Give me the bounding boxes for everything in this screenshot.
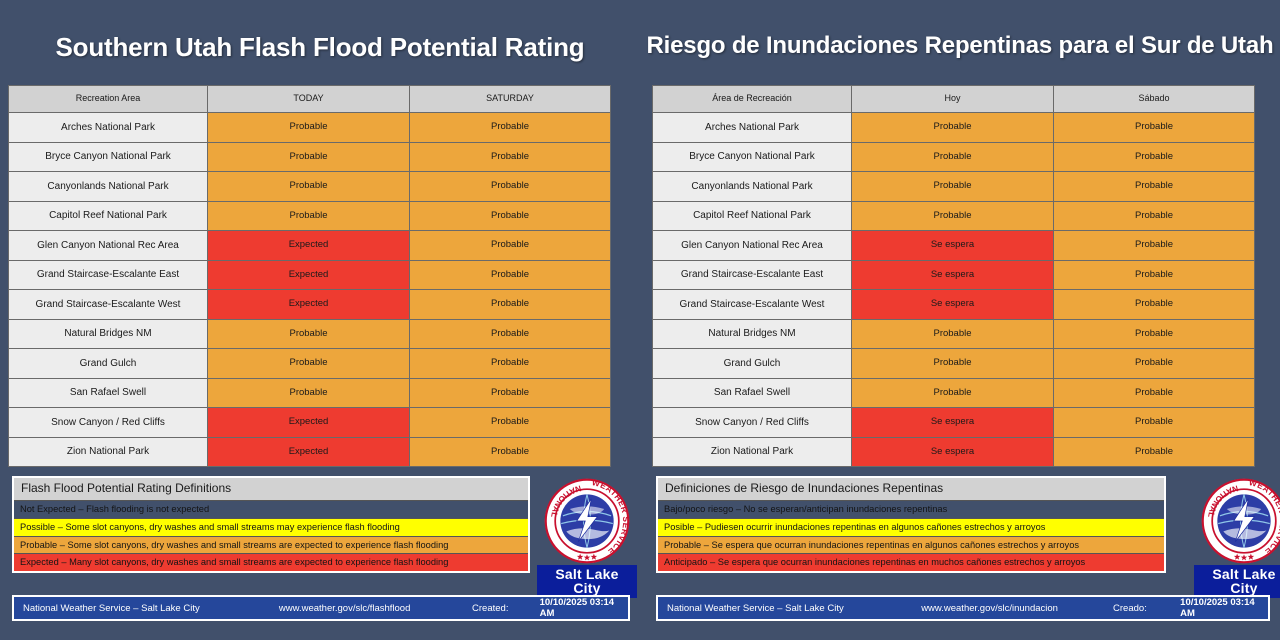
definitions-box-spanish: Definiciones de Riesgo de Inundaciones R… (656, 476, 1166, 573)
definitions-heading: Flash Flood Potential Rating Definitions (14, 478, 528, 501)
cell-recreation-area: Glen Canyon National Rec Area (9, 231, 208, 261)
table-body-english: Arches National ParkProbableProbableBryc… (9, 113, 611, 467)
cell-rating-day1: Probable (208, 201, 410, 231)
footer-agency: National Weather Service – Salt Lake Cit… (658, 603, 921, 614)
cell-rating-day1: Expected (208, 408, 410, 438)
cell-recreation-area: Snow Canyon / Red Cliffs (9, 408, 208, 438)
nws-seal-icon: WEATHER SERVICE NATIONAL (544, 478, 630, 564)
cell-rating-day2: Probable (1054, 231, 1255, 261)
cell-recreation-area: Grand Staircase-Escalante West (9, 290, 208, 320)
cell-recreation-area: Zion National Park (653, 437, 852, 467)
definitions-rows-english: Not Expected – Flash flooding is not exp… (14, 501, 528, 571)
definition-row-probable: Probable – Some slot canyons, dry washes… (14, 537, 528, 555)
cell-recreation-area: Capitol Reef National Park (9, 201, 208, 231)
cell-rating-day2: Probable (1054, 113, 1255, 143)
cell-rating-day2: Probable (410, 260, 611, 290)
cell-recreation-area: Arches National Park (653, 113, 852, 143)
column-header-day1: Hoy (852, 86, 1054, 113)
cell-rating-day1: Se espera (852, 290, 1054, 320)
panel-english: Southern Utah Flash Flood Potential Rati… (0, 0, 640, 640)
table-row: Capitol Reef National ParkProbableProbab… (653, 201, 1255, 231)
page-title-english: Southern Utah Flash Flood Potential Rati… (0, 32, 640, 63)
column-header-area: Área de Recreación (653, 86, 852, 113)
cell-rating-day2: Probable (410, 349, 611, 379)
table-row: Arches National ParkProbableProbable (9, 113, 611, 143)
table-row: Grand Staircase-Escalante WestSe esperaP… (653, 290, 1255, 320)
table-header-row: Recreation Area TODAY SATURDAY (9, 86, 611, 113)
definitions-heading: Definiciones de Riesgo de Inundaciones R… (658, 478, 1164, 501)
table-row: Bryce Canyon National ParkProbableProbab… (653, 142, 1255, 172)
cell-recreation-area: Grand Gulch (9, 349, 208, 379)
cell-rating-day2: Probable (1054, 349, 1255, 379)
cell-rating-day1: Expected (208, 231, 410, 261)
cell-recreation-area: Bryce Canyon National Park (653, 142, 852, 172)
table-row: Snow Canyon / Red CliffsExpectedProbable (9, 408, 611, 438)
cell-rating-day1: Probable (852, 319, 1054, 349)
footer-created-label: Creado: (1113, 603, 1180, 614)
table-row: Glen Canyon National Rec AreaExpectedPro… (9, 231, 611, 261)
column-header-day1: TODAY (208, 86, 410, 113)
cell-recreation-area: Snow Canyon / Red Cliffs (653, 408, 852, 438)
cell-rating-day1: Probable (208, 319, 410, 349)
column-header-area: Recreation Area (9, 86, 208, 113)
footer-created-value: 10/10/2025 03:14 AM (1180, 597, 1268, 619)
footer-created-label: Created: (472, 603, 540, 614)
table-header-row: Área de Recreación Hoy Sábado (653, 86, 1255, 113)
table-row: Grand Staircase-Escalante EastSe esperaP… (653, 260, 1255, 290)
cell-rating-day1: Probable (852, 172, 1054, 202)
nws-logo-spanish: WEATHER SERVICE NATIONAL Salt Lake City (1194, 478, 1280, 598)
cell-rating-day2: Probable (1054, 172, 1255, 202)
cell-rating-day2: Probable (1054, 408, 1255, 438)
table-row: Canyonlands National ParkProbableProbabl… (9, 172, 611, 202)
cell-rating-day1: Probable (208, 378, 410, 408)
footer-bar-spanish: National Weather Service – Salt Lake Cit… (656, 595, 1270, 621)
cell-rating-day1: Se espera (852, 437, 1054, 467)
page-title-spanish: Riesgo de Inundaciones Repentinas para e… (640, 32, 1280, 60)
table-body-spanish: Arches National ParkProbableProbableBryc… (653, 113, 1255, 467)
cell-rating-day1: Expected (208, 290, 410, 320)
cell-rating-day1: Probable (208, 349, 410, 379)
cell-rating-day1: Probable (852, 201, 1054, 231)
cell-recreation-area: Natural Bridges NM (9, 319, 208, 349)
cell-rating-day1: Se espera (852, 231, 1054, 261)
cell-recreation-area: Canyonlands National Park (9, 172, 208, 202)
footer-url[interactable]: www.weather.gov/slc/inundacion (921, 603, 1113, 614)
cell-rating-day2: Probable (410, 142, 611, 172)
cell-rating-day2: Probable (1054, 378, 1255, 408)
office-banner-english: Salt Lake City (537, 565, 637, 598)
table-row: Canyonlands National ParkProbableProbabl… (653, 172, 1255, 202)
column-header-day2: Sábado (1054, 86, 1255, 113)
table-row: San Rafael SwellProbableProbable (9, 378, 611, 408)
cell-recreation-area: San Rafael Swell (653, 378, 852, 408)
cell-recreation-area: San Rafael Swell (9, 378, 208, 408)
definition-row-not-expected: Bajo/poco riesgo – No se esperan/anticip… (658, 501, 1164, 519)
cell-recreation-area: Grand Gulch (653, 349, 852, 379)
definitions-rows-spanish: Bajo/poco riesgo – No se esperan/anticip… (658, 501, 1164, 571)
cell-recreation-area: Glen Canyon National Rec Area (653, 231, 852, 261)
nws-logo-english: WEATHER SERVICE NATIONAL Salt Lake City (537, 478, 637, 598)
cell-rating-day2: Probable (1054, 319, 1255, 349)
table-row: Glen Canyon National Rec AreaSe esperaPr… (653, 231, 1255, 261)
cell-rating-day1: Probable (852, 113, 1054, 143)
cell-rating-day2: Probable (1054, 260, 1255, 290)
cell-rating-day2: Probable (410, 290, 611, 320)
footer-url[interactable]: www.weather.gov/slc/flashflood (279, 603, 472, 614)
column-header-day2: SATURDAY (410, 86, 611, 113)
table-row: Grand GulchProbableProbable (653, 349, 1255, 379)
cell-recreation-area: Arches National Park (9, 113, 208, 143)
footer-bar-english: National Weather Service – Salt Lake Cit… (12, 595, 630, 621)
cell-rating-day2: Probable (1054, 437, 1255, 467)
definition-row-possible: Possible – Some slot canyons, dry washes… (14, 519, 528, 537)
cell-rating-day1: Probable (852, 378, 1054, 408)
cell-recreation-area: Bryce Canyon National Park (9, 142, 208, 172)
flash-flood-rating-graphic: Southern Utah Flash Flood Potential Rati… (0, 0, 1280, 640)
cell-rating-day1: Probable (208, 142, 410, 172)
definition-row-expected: Anticipado – Se espera que ocurran inund… (658, 554, 1164, 571)
cell-rating-day2: Probable (410, 201, 611, 231)
cell-rating-day2: Probable (410, 408, 611, 438)
cell-rating-day2: Probable (1054, 201, 1255, 231)
table-row: San Rafael SwellProbableProbable (653, 378, 1255, 408)
rating-table-english: Recreation Area TODAY SATURDAY Arches Na… (8, 85, 611, 467)
cell-recreation-area: Zion National Park (9, 437, 208, 467)
definition-row-expected: Expected – Many slot canyons, dry washes… (14, 554, 528, 571)
cell-rating-day1: Probable (208, 113, 410, 143)
cell-rating-day1: Probable (208, 172, 410, 202)
table-row: Grand Staircase-Escalante EastExpectedPr… (9, 260, 611, 290)
footer-created-value: 10/10/2025 03:14 AM (540, 597, 628, 619)
cell-rating-day2: Probable (410, 437, 611, 467)
definition-row-not-expected: Not Expected – Flash flooding is not exp… (14, 501, 528, 519)
cell-rating-day1: Probable (852, 142, 1054, 172)
rating-table-spanish: Área de Recreación Hoy Sábado Arches Nat… (652, 85, 1255, 467)
footer-agency: National Weather Service – Salt Lake Cit… (14, 603, 279, 614)
cell-rating-day2: Probable (410, 172, 611, 202)
definitions-box-english: Flash Flood Potential Rating Definitions… (12, 476, 530, 573)
definition-row-possible: Posible – Pudiesen ocurrir inundaciones … (658, 519, 1164, 537)
cell-rating-day2: Probable (410, 231, 611, 261)
cell-recreation-area: Capitol Reef National Park (653, 201, 852, 231)
cell-rating-day2: Probable (1054, 290, 1255, 320)
table-row: Arches National ParkProbableProbable (653, 113, 1255, 143)
cell-rating-day1: Probable (852, 349, 1054, 379)
table-row: Grand Staircase-Escalante WestExpectedPr… (9, 290, 611, 320)
table-row: Capitol Reef National ParkProbableProbab… (9, 201, 611, 231)
cell-rating-day2: Probable (410, 378, 611, 408)
table-row: Bryce Canyon National ParkProbableProbab… (9, 142, 611, 172)
cell-rating-day2: Probable (410, 113, 611, 143)
cell-recreation-area: Natural Bridges NM (653, 319, 852, 349)
definition-row-probable: Probable – Se espera que ocurran inundac… (658, 537, 1164, 555)
cell-rating-day2: Probable (410, 319, 611, 349)
cell-rating-day1: Expected (208, 437, 410, 467)
nws-seal-icon: WEATHER SERVICE NATIONAL (1201, 478, 1280, 564)
panel-spanish: Riesgo de Inundaciones Repentinas para e… (640, 0, 1280, 640)
table-row: Zion National ParkExpectedProbable (9, 437, 611, 467)
office-banner-spanish: Salt Lake City (1194, 565, 1280, 598)
cell-rating-day1: Expected (208, 260, 410, 290)
table-row: Natural Bridges NMProbableProbable (653, 319, 1255, 349)
table-row: Snow Canyon / Red CliffsSe esperaProbabl… (653, 408, 1255, 438)
cell-recreation-area: Grand Staircase-Escalante East (9, 260, 208, 290)
cell-recreation-area: Grand Staircase-Escalante East (653, 260, 852, 290)
table-row: Zion National ParkSe esperaProbable (653, 437, 1255, 467)
cell-recreation-area: Canyonlands National Park (653, 172, 852, 202)
table-row: Grand GulchProbableProbable (9, 349, 611, 379)
cell-recreation-area: Grand Staircase-Escalante West (653, 290, 852, 320)
cell-rating-day1: Se espera (852, 260, 1054, 290)
table-row: Natural Bridges NMProbableProbable (9, 319, 611, 349)
cell-rating-day2: Probable (1054, 142, 1255, 172)
cell-rating-day1: Se espera (852, 408, 1054, 438)
